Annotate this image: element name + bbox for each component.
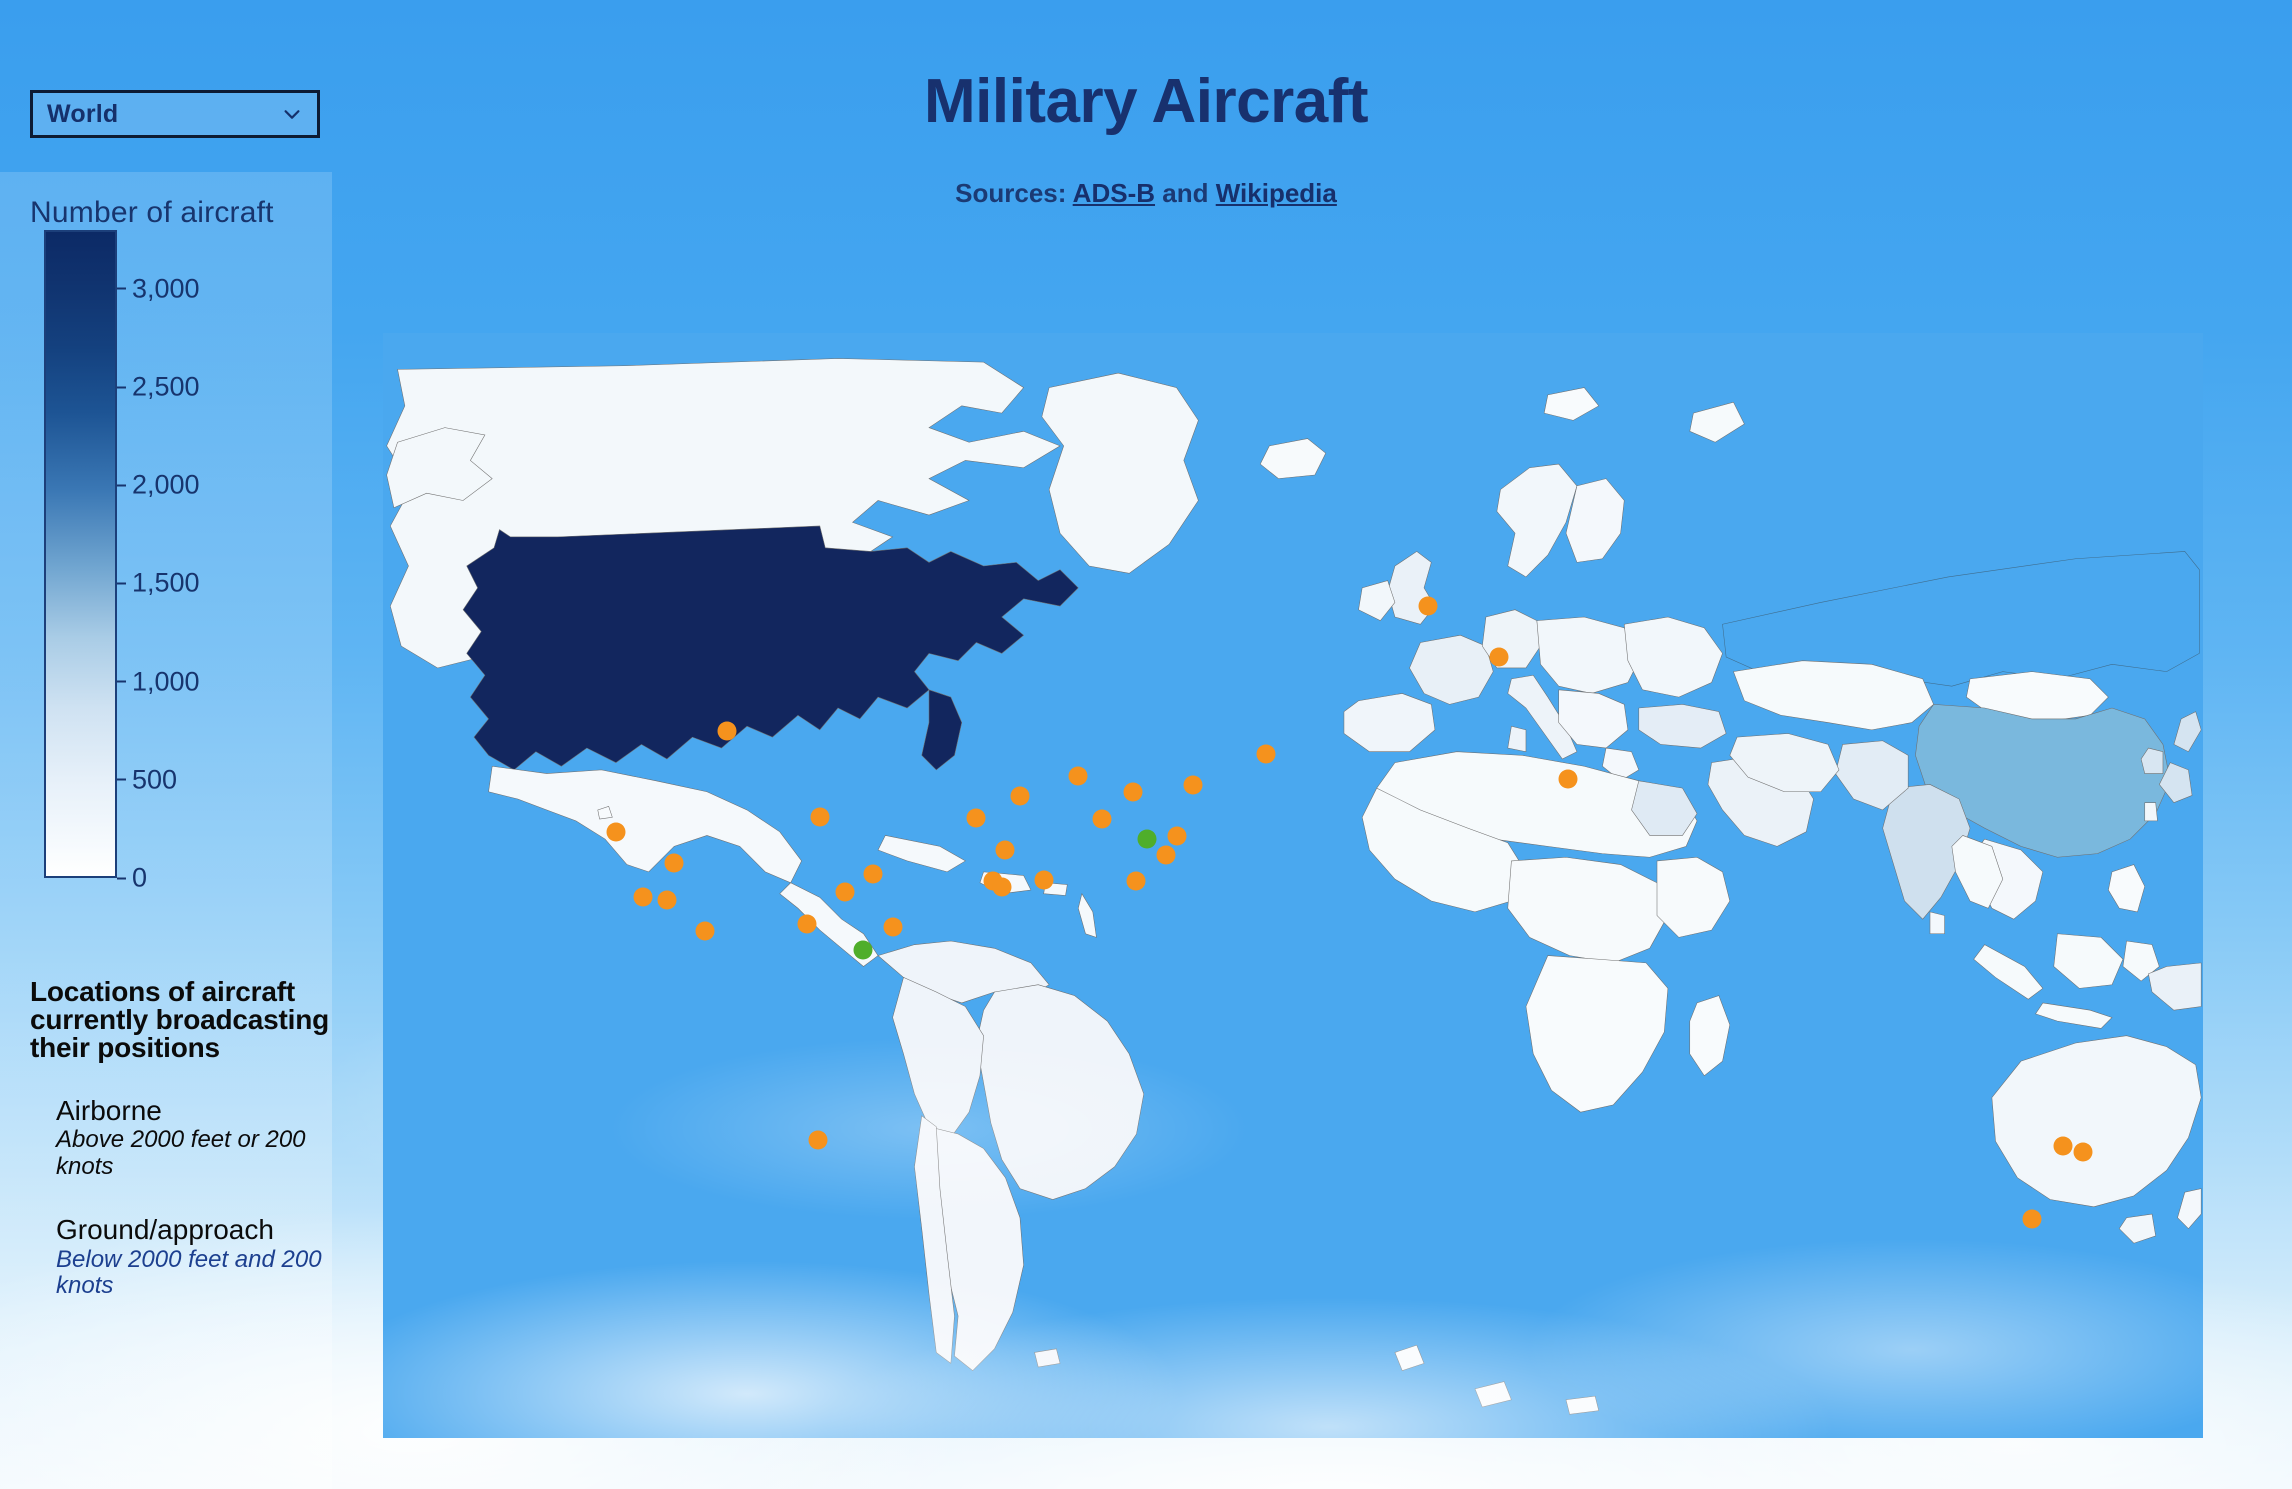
island-new-guinea: [2148, 963, 2201, 1010]
island-lesser-antilles: [1078, 894, 1096, 938]
country-greenland: [1042, 373, 1199, 573]
island-svalbard: [1544, 388, 1599, 421]
aircraft-marker-airborne[interactable]: [1256, 745, 1275, 764]
aircraft-marker-airborne[interactable]: [1034, 870, 1053, 889]
colorbar-tick: 500: [117, 764, 177, 795]
colorbar-tick-label: 2,500: [132, 372, 200, 403]
legend-entry-airborne-label: Airborne: [56, 1096, 330, 1125]
aircraft-marker-airborne[interactable]: [606, 823, 625, 842]
island-sri-lanka: [1930, 912, 1945, 934]
region-east-africa: [1657, 857, 1730, 937]
country-united-states: [463, 526, 1078, 770]
colorbar-tick-label: 0: [132, 863, 147, 894]
island-cuba: [878, 835, 965, 871]
colorbar-tick: 0: [117, 863, 147, 894]
aircraft-marker-airborne[interactable]: [1069, 767, 1088, 786]
aircraft-marker-airborne[interactable]: [798, 915, 817, 934]
colorbar-tick: 3,000: [117, 273, 200, 304]
country-australia: [1992, 1036, 2201, 1207]
aircraft-marker-ground[interactable]: [1138, 830, 1157, 849]
island-taiwan: [2145, 803, 2158, 821]
colorbar-tick-label: 1,000: [132, 666, 200, 697]
colorbar-tick-mark: [117, 288, 126, 290]
marker-legend-heading: Locations of aircraft currently broadcas…: [30, 978, 330, 1062]
colorbar-tick: 2,500: [117, 372, 200, 403]
country-brazil: [976, 985, 1143, 1200]
region-central-africa: [1508, 857, 1668, 963]
colorbar-tick-mark: [117, 484, 126, 486]
island-new-zealand: [2178, 1189, 2202, 1229]
legend-entry-ground-sub: Below 2000 feet and 200 knots: [56, 1247, 330, 1301]
aircraft-marker-airborne[interactable]: [1489, 647, 1508, 666]
region-scandinavia: [1497, 464, 1577, 577]
aircraft-marker-airborne[interactable]: [1183, 775, 1202, 794]
aircraft-marker-airborne[interactable]: [810, 807, 829, 826]
island-novaya-zemlya: [1690, 402, 1745, 442]
country-france: [1409, 635, 1493, 704]
country-spain-portugal: [1344, 693, 1435, 751]
world-map-svg: [383, 333, 2203, 1438]
sources-prefix: Sources:: [955, 178, 1066, 208]
us-florida: [922, 690, 962, 770]
colorbar-tick-mark: [117, 779, 126, 781]
colorbar-tick-label: 2,000: [132, 470, 200, 501]
island-pacific-group: [1395, 1345, 1599, 1414]
colorbar-tick-mark: [117, 681, 126, 683]
aircraft-marker-airborne[interactable]: [1418, 596, 1437, 615]
marker-legend: Locations of aircraft currently broadcas…: [30, 978, 330, 1300]
colorbar-tick-label: 500: [132, 764, 177, 795]
aircraft-marker-airborne[interactable]: [996, 841, 1015, 860]
legend-entry-ground: Ground/approach Below 2000 feet and 200 …: [30, 1215, 330, 1300]
aircraft-marker-airborne[interactable]: [883, 918, 902, 937]
aircraft-marker-airborne[interactable]: [1167, 826, 1186, 845]
aircraft-marker-airborne[interactable]: [2053, 1137, 2072, 1156]
aircraft-marker-airborne[interactable]: [2073, 1142, 2092, 1161]
island-madagascar: [1690, 996, 1730, 1076]
legend-entry-airborne-sub: Above 2000 feet or 200 knots: [56, 1127, 330, 1181]
aircraft-marker-airborne[interactable]: [863, 865, 882, 884]
aircraft-marker-airborne[interactable]: [1123, 782, 1142, 801]
world-map[interactable]: [383, 333, 2203, 1438]
island-falklands: [1035, 1349, 1060, 1367]
country-peru-bolivia: [893, 977, 984, 1137]
aircraft-marker-airborne[interactable]: [1156, 845, 1175, 864]
aircraft-marker-airborne[interactable]: [1092, 810, 1111, 829]
island-tasmania: [2119, 1214, 2155, 1243]
aircraft-marker-ground[interactable]: [854, 940, 873, 959]
island-java: [2036, 1003, 2112, 1028]
map-landmasses: [387, 358, 2202, 1414]
aircraft-marker-airborne[interactable]: [1558, 770, 1577, 789]
colorbar: 3,0002,5002,0001,5001,0005000: [44, 230, 294, 880]
region-eastern-europe: [1624, 617, 1722, 697]
region-southern-africa: [1526, 956, 1668, 1113]
colorbar-tick: 2,000: [117, 470, 200, 501]
colorbar-tick: 1,500: [117, 568, 200, 599]
aircraft-marker-airborne[interactable]: [717, 721, 736, 740]
colorbar-title: Number of aircraft: [30, 196, 274, 230]
colorbar-tick-mark: [117, 386, 126, 388]
aircraft-marker-airborne[interactable]: [808, 1130, 827, 1149]
sources-line: Sources: ADS-B and Wikipedia: [0, 178, 2292, 209]
legend-entry-airborne: Airborne Above 2000 feet or 200 knots: [30, 1096, 330, 1181]
colorbar-gradient: [44, 230, 117, 878]
island-philippines: [2108, 865, 2144, 912]
aircraft-marker-airborne[interactable]: [1127, 872, 1146, 891]
country-iceland: [1260, 439, 1326, 479]
aircraft-marker-airborne[interactable]: [657, 890, 676, 909]
island-sumatra: [1974, 945, 2043, 1000]
colorbar-tick-mark: [117, 582, 126, 584]
country-ireland: [1359, 581, 1395, 621]
aircraft-marker-airborne[interactable]: [992, 877, 1011, 896]
aircraft-marker-airborne[interactable]: [2022, 1210, 2041, 1229]
source-link-adsb[interactable]: ADS-B: [1073, 178, 1155, 208]
colorbar-tick-label: 1,500: [132, 568, 200, 599]
aircraft-marker-airborne[interactable]: [665, 854, 684, 873]
country-turkey: [1639, 704, 1726, 748]
colorbar-tick-mark: [117, 877, 126, 879]
island-borneo: [2054, 934, 2123, 989]
country-mexico: [489, 766, 802, 883]
source-link-wikipedia[interactable]: Wikipedia: [1216, 178, 1337, 208]
aircraft-marker-airborne[interactable]: [696, 921, 715, 940]
page-title: Military Aircraft: [0, 66, 2292, 137]
legend-entry-ground-label: Ground/approach: [56, 1215, 330, 1244]
aircraft-marker-airborne[interactable]: [967, 809, 986, 828]
sources-conjunction: and: [1162, 178, 1208, 208]
aircraft-marker-airborne[interactable]: [1011, 786, 1030, 805]
colorbar-tick: 1,000: [117, 666, 200, 697]
aircraft-marker-airborne[interactable]: [836, 883, 855, 902]
aircraft-marker-airborne[interactable]: [634, 887, 653, 906]
colorbar-tick-label: 3,000: [132, 273, 200, 304]
